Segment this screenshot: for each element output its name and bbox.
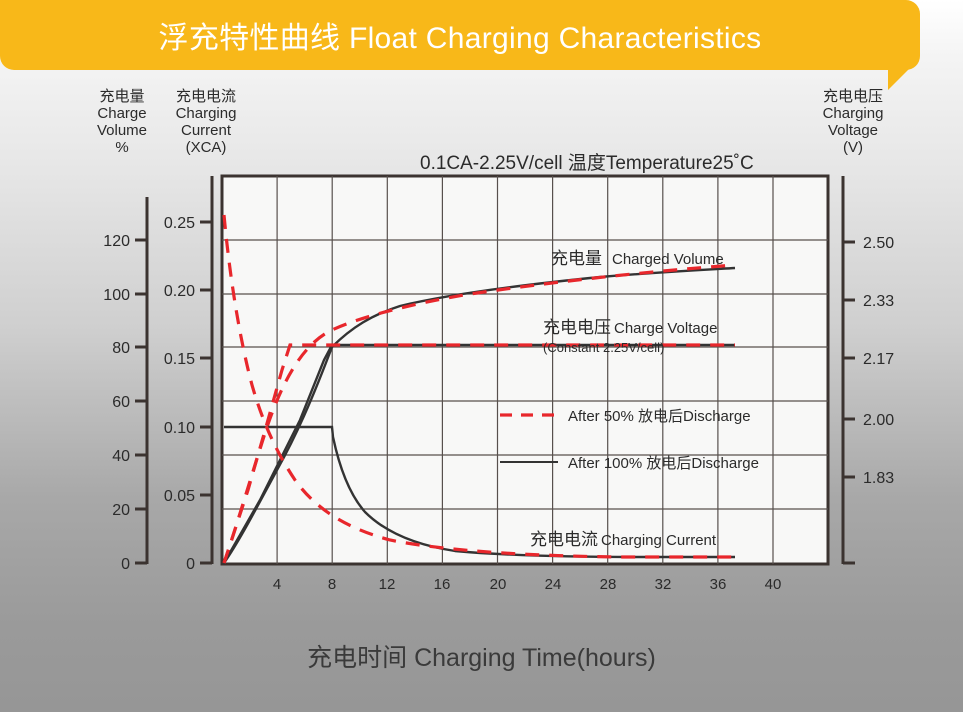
annotation-charge-voltage-cn: 充电电压 (543, 318, 611, 337)
ytick-voltage-183: 1.83 (863, 470, 894, 487)
ytick-volume-60: 60 (112, 394, 130, 411)
annotation-charging-current-cn: 充电电流 (530, 530, 598, 549)
annotation-charged-volume: 充电量 Charged Volume (551, 249, 724, 268)
xtick-4: 4 (273, 576, 281, 593)
xaxis-ticks: 4 8 12 16 20 24 28 32 36 40 (273, 576, 782, 593)
ytick-current-0: 0 (186, 556, 195, 573)
chart-svg: 120 100 80 60 40 20 0 0.25 0.20 0.15 0.1… (0, 0, 963, 712)
ytick-volume-20: 20 (112, 502, 130, 519)
plot-area (222, 176, 828, 564)
ytick-voltage-250: 2.50 (863, 235, 894, 252)
annotation-charge-voltage-note: (Constant 2.25V/cell) (543, 340, 664, 355)
ytick-voltage-200: 2.00 (863, 412, 894, 429)
legend-label-after-50: After 50% 放电后Discharge (568, 408, 751, 425)
xtick-12: 12 (379, 576, 396, 593)
xtick-16: 16 (434, 576, 451, 593)
ytick-volume-0: 0 (121, 556, 130, 573)
ytick-voltage-233: 2.33 (863, 293, 894, 310)
ytick-current-025: 0.25 (164, 215, 195, 232)
ytick-current-005: 0.05 (164, 488, 195, 505)
annotation-charge-voltage-en: Charge Voltage (614, 320, 717, 337)
legend-label-after-100: After 100% 放电后Discharge (568, 455, 759, 472)
xaxis-title: 充电时间 Charging Time(hours) (0, 638, 963, 674)
ytick-current-015: 0.15 (164, 351, 195, 368)
annotation-charged-volume-cn: 充电量 (551, 249, 602, 268)
ytick-voltage-217: 2.17 (863, 351, 894, 368)
xtick-20: 20 (490, 576, 507, 593)
ytick-volume-40: 40 (112, 448, 130, 465)
axis-charge-volume: 120 100 80 60 40 20 0 (103, 197, 147, 573)
ytick-volume-100: 100 (103, 287, 130, 304)
ytick-volume-80: 80 (112, 340, 130, 357)
annotation-charged-volume-en: Charged Volume (612, 251, 724, 268)
xtick-24: 24 (545, 576, 562, 593)
ytick-volume-120: 120 (103, 233, 130, 250)
xtick-36: 36 (710, 576, 727, 593)
xtick-28: 28 (600, 576, 617, 593)
xtick-32: 32 (655, 576, 672, 593)
annotation-charging-current-en: Charging Current (601, 532, 717, 549)
annotation-charging-current: 充电电流 Charging Current (530, 530, 717, 549)
ytick-current-020: 0.20 (164, 283, 195, 300)
axis-charging-voltage: 2.50 2.33 2.17 2.00 1.83 (843, 176, 894, 564)
xtick-40: 40 (765, 576, 782, 593)
axis-charging-current: 0.25 0.20 0.15 0.10 0.05 0 (164, 176, 212, 573)
xtick-8: 8 (328, 576, 336, 593)
ytick-current-010: 0.10 (164, 420, 195, 437)
